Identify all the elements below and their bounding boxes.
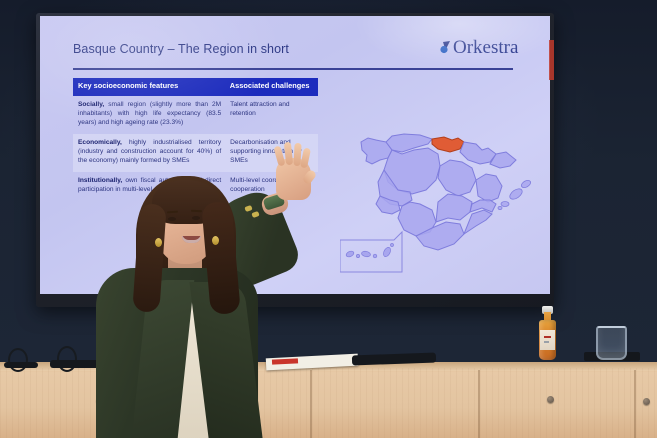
earring	[212, 236, 219, 245]
eye	[192, 216, 200, 220]
presenter	[0, 0, 657, 438]
earring	[155, 238, 162, 247]
eye	[168, 217, 176, 221]
finger	[300, 147, 311, 168]
finger	[284, 142, 293, 166]
presentation-photo: Basque Country – The Region in short Ork…	[0, 0, 657, 438]
